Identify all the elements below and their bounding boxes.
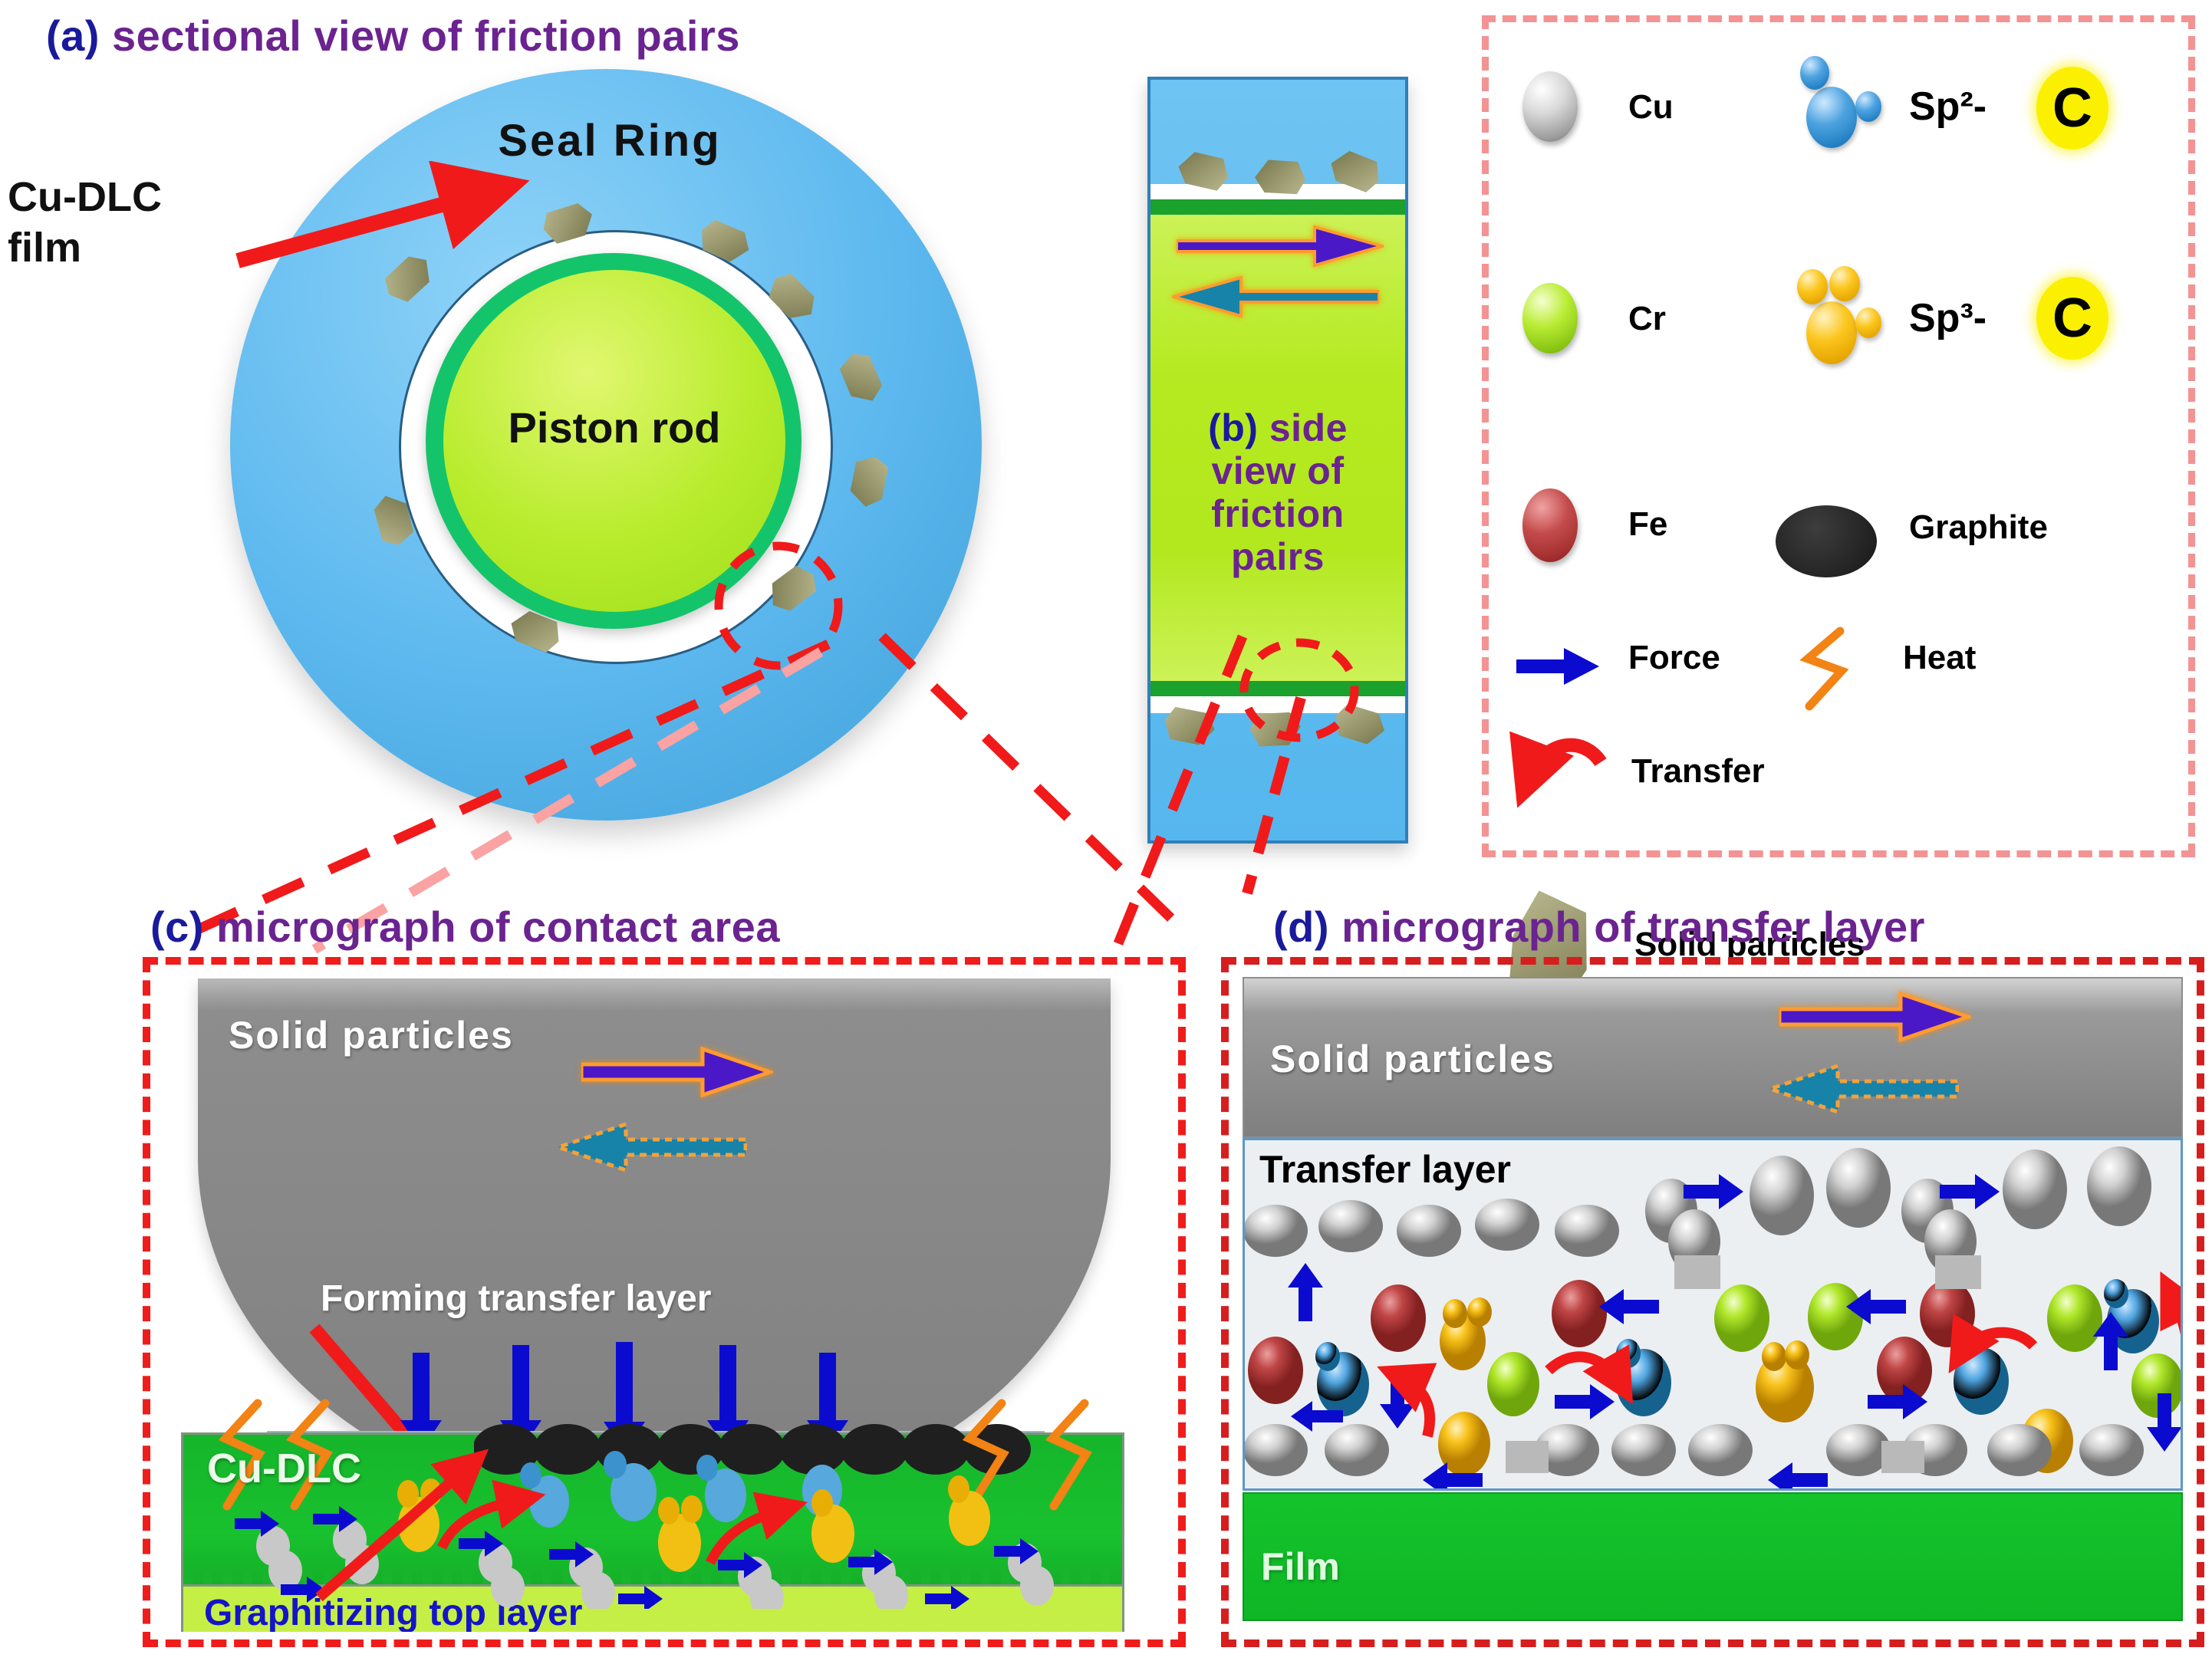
seal-ring-label: Seal Ring	[433, 115, 786, 166]
carbon-badge-sp2: C	[2036, 67, 2108, 150]
panel-c-title: (c) micrograph of contact area	[150, 902, 780, 952]
sliding-arrow-forward-icon	[1779, 991, 1971, 1044]
green-sphere-icon	[1522, 283, 1578, 354]
orange-cluster-icon	[1789, 266, 1889, 364]
sliding-arrow-backward-icon	[555, 1121, 747, 1175]
cu-dlc-film-top-line	[1150, 199, 1405, 215]
sliding-arrow-forward-icon	[1177, 222, 1384, 270]
sliding-arrow-backward-icon	[1767, 1063, 1959, 1117]
panel-d-tag: (d)	[1273, 903, 1329, 951]
legend-box: Cu Sp²- C Cr Sp³- C Fe Graphite Force He…	[1482, 15, 2195, 857]
orange-squiggle-icon	[1796, 627, 1865, 712]
panel-d-film-label: Film	[1261, 1544, 1340, 1589]
panel-d-solid-particles-label: Solid particles	[1270, 1037, 1555, 1081]
legend-label-cr: Cr	[1628, 300, 1666, 338]
panel-c-tag: (c)	[150, 903, 204, 951]
panel-b-title-line1: side	[1258, 406, 1347, 449]
legend-label-transfer: Transfer	[1631, 752, 1765, 791]
piston-rod-label: Piston rod	[443, 403, 785, 452]
panel-d-transfer-layer-label: Transfer layer	[1259, 1147, 1511, 1192]
panel-c-title-text: micrograph of contact area	[204, 903, 780, 951]
cu-dlc-label-line1: Cu-DLC	[8, 173, 261, 223]
black-ellipse-icon	[1776, 505, 1877, 577]
panel-c-content: Solid particles Forming transfer layer	[167, 978, 1163, 1632]
panel-b-title-line3: friction	[1163, 492, 1393, 535]
blue-arrow-icon	[1516, 645, 1601, 688]
legend-label-heat: Heat	[1903, 639, 1976, 677]
cu-dlc-film-label: Cu-DLC film	[8, 173, 261, 274]
panel-a-title: (a) sectional view of friction pairs	[46, 11, 740, 61]
panel-b-title-line4: pairs	[1163, 535, 1393, 578]
panel-b-title-line2: view of	[1163, 449, 1393, 492]
grey-sphere-icon	[1522, 71, 1578, 142]
legend-label-fe: Fe	[1628, 505, 1667, 544]
legend-label-force: Force	[1628, 639, 1720, 677]
panel-d-title-text: micrograph of transfer layer	[1329, 903, 1925, 951]
film-layer	[1243, 1492, 2183, 1621]
film-microstructure	[189, 1448, 1132, 1609]
cu-dlc-pointer-arrow-icon	[230, 161, 552, 284]
panel-b-title: (b) side view of friction pairs	[1163, 406, 1393, 578]
panel-a-title-text: sectional view of friction pairs	[100, 12, 740, 60]
legend-label-graphite: Graphite	[1909, 508, 2048, 547]
sliding-arrow-forward-icon	[581, 1046, 773, 1100]
panel-d-content: Solid particles	[1243, 977, 2183, 1626]
legend-label-cu: Cu	[1628, 88, 1674, 127]
legend-label-sp3: Sp³-	[1909, 295, 1987, 341]
panel-a-tag: (a)	[46, 12, 100, 60]
red-sphere-icon	[1522, 488, 1578, 562]
legend-label-sp2: Sp²-	[1909, 84, 1987, 130]
carbon-badge-sp3: C	[2036, 277, 2108, 360]
cu-dlc-label-line2: film	[8, 223, 261, 274]
red-curved-arrow-icon	[1504, 732, 1611, 824]
panel-b-tag: (b)	[1208, 406, 1258, 449]
panel-c-solid-particles-label: Solid particles	[229, 1013, 514, 1057]
sliding-arrow-backward-icon	[1172, 275, 1379, 319]
panel-d-title: (d) micrograph of transfer layer	[1273, 902, 1925, 952]
transfer-layer-particles	[1245, 1140, 2183, 1491]
forming-transfer-layer-label: Forming transfer layer	[321, 1278, 711, 1320]
blue-cluster-icon	[1789, 53, 1889, 151]
